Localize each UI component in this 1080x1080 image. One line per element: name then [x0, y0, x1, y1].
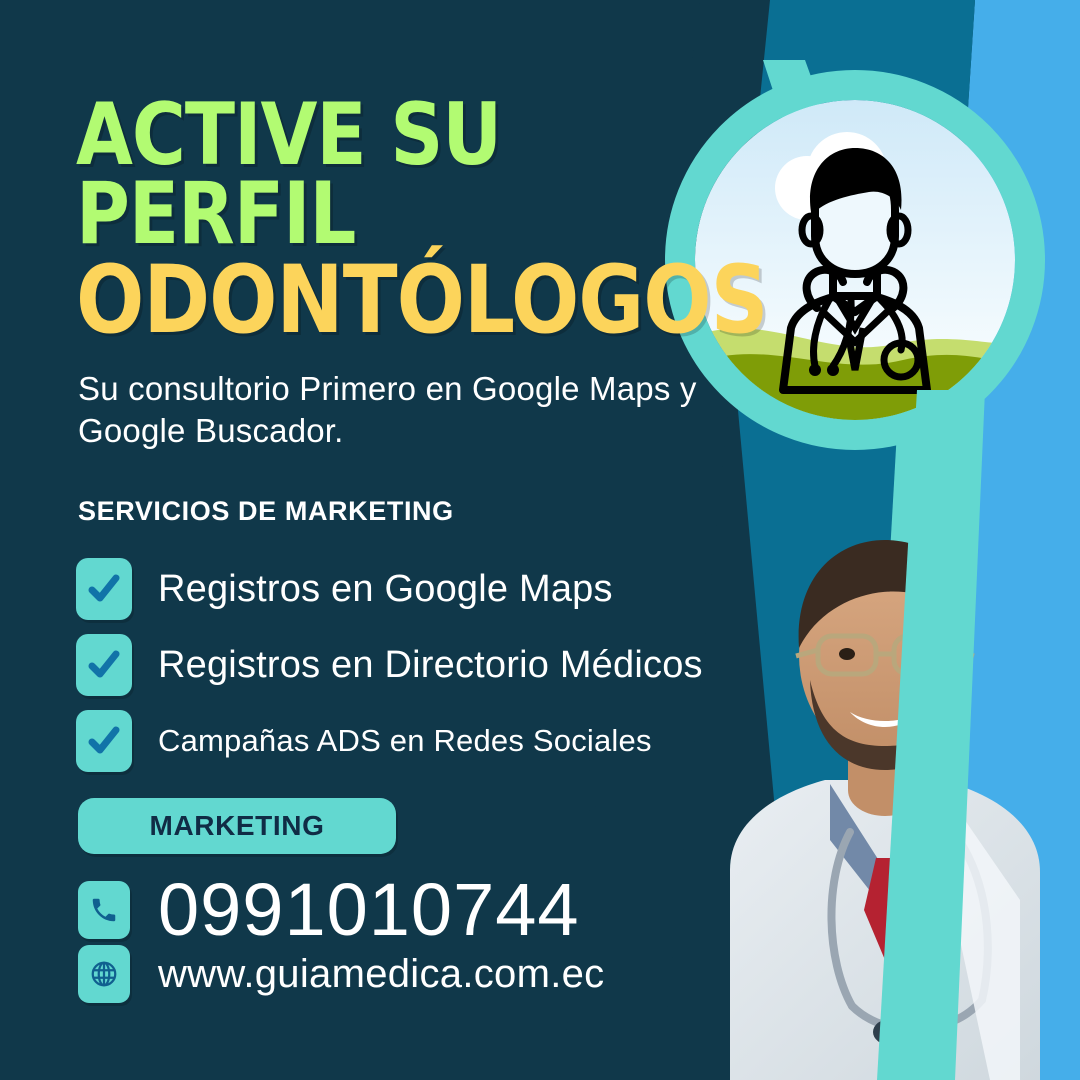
subtitle: Su consultorio Primero en Google Maps y … [78, 368, 698, 452]
content-column: ACTIVE SU PERFIL ODONTÓLOGOS Su consulto… [76, 0, 756, 1080]
marketing-badge: MARKETING [78, 798, 396, 854]
headline-line-1: ACTIVE SU PERFIL [76, 96, 703, 254]
contact-website[interactable]: www.guiamedica.com.ec [78, 945, 604, 1003]
services-checklist: Registros en Google Maps Registros en Di… [76, 558, 776, 786]
list-item: Campañas ADS en Redes Sociales [76, 710, 776, 772]
headline-line-2: ODONTÓLOGOS [76, 258, 703, 344]
promo-poster: ACTIVE SU PERFIL ODONTÓLOGOS Su consulto… [0, 0, 1080, 1080]
phone-number: 0991010744 [158, 873, 580, 947]
contact-phone[interactable]: 0991010744 [78, 873, 580, 947]
check-icon [76, 634, 132, 696]
globe-icon [78, 945, 130, 1003]
website-url: www.guiamedica.com.ec [158, 954, 604, 994]
list-item-label: Registros en Google Maps [158, 568, 613, 611]
page-title: ACTIVE SU PERFIL ODONTÓLOGOS [76, 96, 736, 345]
list-item: Registros en Directorio Médicos [76, 634, 776, 696]
services-section-label: SERVICIOS DE MARKETING [78, 496, 454, 527]
check-icon [76, 558, 132, 620]
marketing-badge-label: MARKETING [150, 810, 325, 842]
list-item: Registros en Google Maps [76, 558, 776, 620]
list-item-label: Campañas ADS en Redes Sociales [158, 723, 652, 759]
check-icon [76, 710, 132, 772]
list-item-label: Registros en Directorio Médicos [158, 644, 703, 687]
phone-icon [78, 881, 130, 939]
